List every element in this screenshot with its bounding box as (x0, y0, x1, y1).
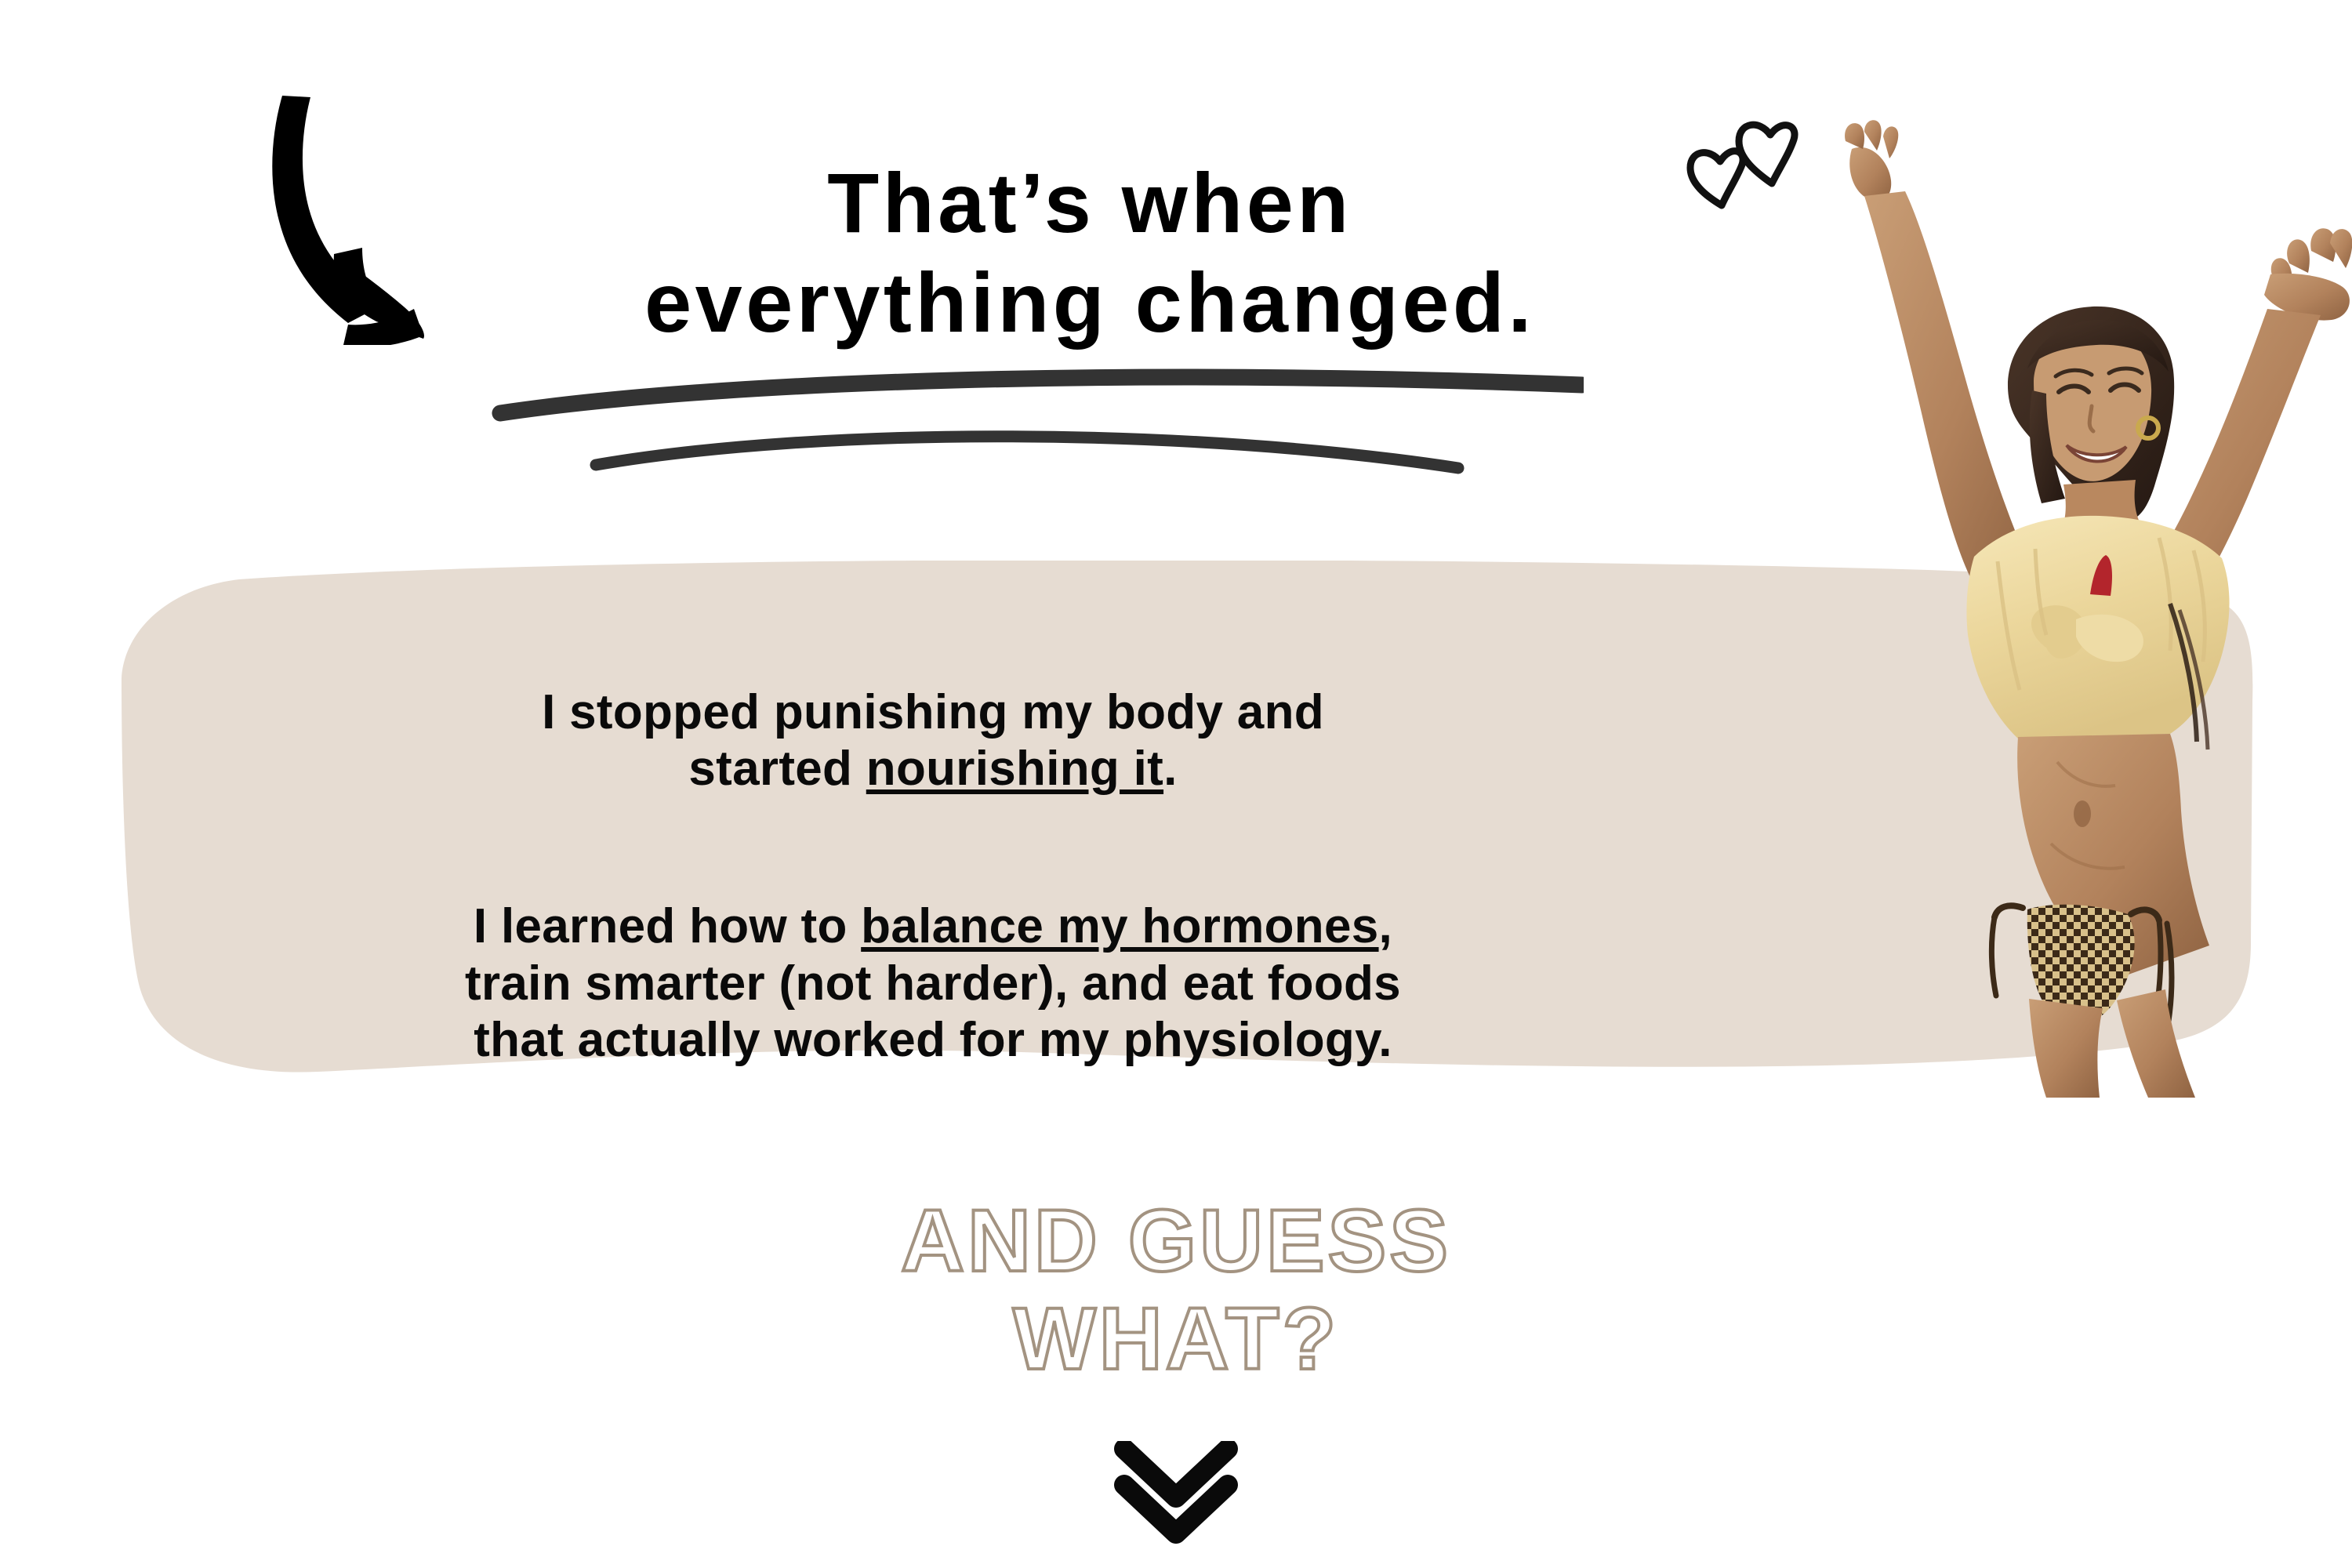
celebration-photo (1841, 118, 2352, 1098)
paragraph-two: I learned how to balance my hormones, tr… (180, 842, 1686, 1069)
page-title: That’s when everything changed. (439, 153, 1740, 353)
paragraph-one-tail: . (1163, 742, 1178, 796)
paragraph-two-emphasis: balance my hormones (861, 899, 1378, 953)
paragraph-two-lead: I learned how to (474, 899, 861, 953)
outlined-subheading: AND GUESS WHAT? (549, 1192, 1803, 1388)
double-chevron-down-icon (1090, 1441, 1262, 1559)
body-copy: I stopped punishing my body and started … (180, 627, 1686, 1069)
hand-drawn-underline-icon (486, 365, 1584, 498)
slide-canvas: That’s when everything changed. (0, 0, 2352, 1568)
paragraph-one-emphasis: nourishing it (866, 742, 1163, 796)
paragraph-spacer (180, 798, 1686, 842)
paragraph-one: I stopped punishing my body and started … (180, 627, 1686, 798)
